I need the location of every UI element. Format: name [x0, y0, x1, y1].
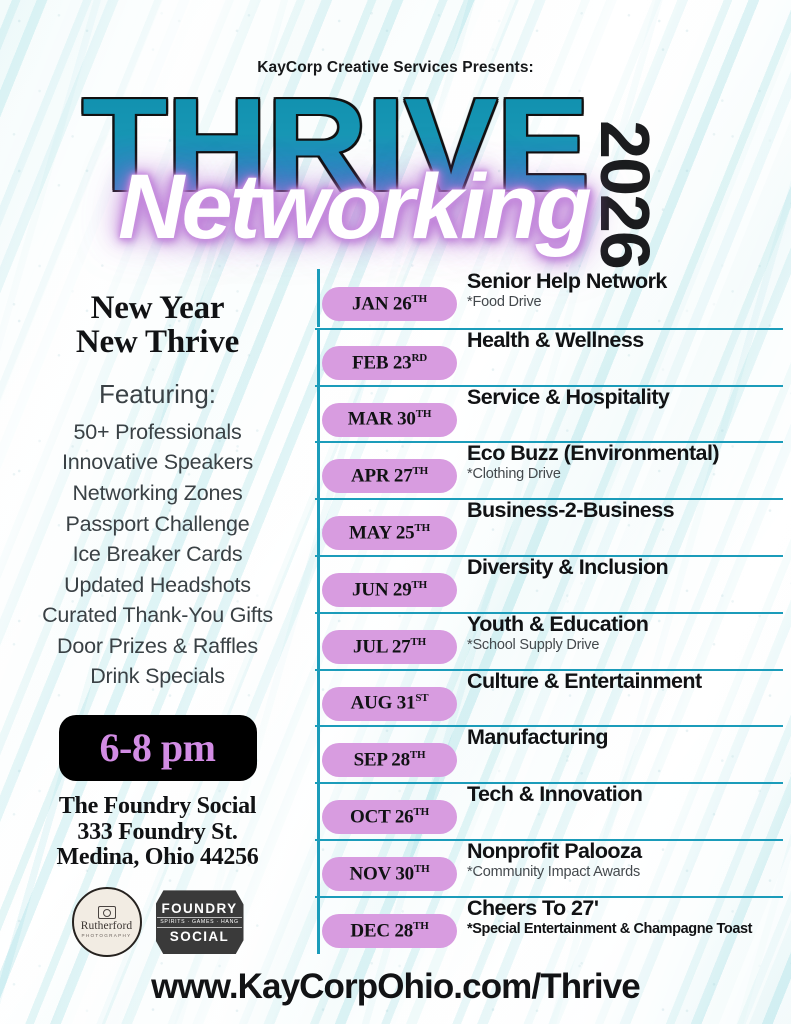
title-block: THRIVE 2026 Networking — [0, 83, 791, 268]
date-pill: NOV 30TH — [322, 857, 457, 891]
rutherford-logo-name: Rutherford — [81, 920, 132, 932]
date-label: SEP 28TH — [354, 749, 426, 771]
date-pill: SEP 28TH — [322, 743, 457, 777]
content-split: New Year New Thrive Featuring: 50+ Profe… — [0, 268, 791, 957]
date-label: OCT 26TH — [350, 806, 429, 828]
camera-icon — [98, 906, 116, 919]
schedule-row[interactable]: OCT 26THTech & Innovation — [315, 782, 783, 839]
schedule-row[interactable]: MAY 25THBusiness-2-Business — [315, 498, 783, 555]
schedule-title: Youth & Education — [467, 612, 783, 637]
schedule-info: Nonprofit Palooza*Community Impact Award… — [467, 839, 783, 881]
headline-line-1: New Year — [0, 291, 315, 325]
date-pill: JAN 26TH — [322, 287, 457, 321]
schedule-title: Culture & Entertainment — [467, 669, 783, 694]
schedule-row[interactable]: NOV 30THNonprofit Palooza*Community Impa… — [315, 839, 783, 896]
schedule-info: Senior Help Network*Food Drive — [467, 269, 783, 311]
foundry-logo-line-1: FOUNDRY — [161, 901, 237, 916]
date-label: DEC 28TH — [350, 920, 428, 942]
event-year: 2026 — [590, 120, 660, 268]
feature-item: Passport Challenge — [0, 509, 315, 540]
schedule-title: Nonprofit Palooza — [467, 839, 783, 864]
schedule-info: Youth & Education*School Supply Drive — [467, 612, 783, 654]
date-pill: OCT 26TH — [322, 800, 457, 834]
schedule-subtitle: *Clothing Drive — [467, 466, 783, 483]
right-column: JAN 26THSenior Help Network*Food DriveFE… — [315, 268, 791, 957]
date-label: APR 27TH — [351, 465, 428, 487]
date-pill: JUL 27TH — [322, 630, 457, 664]
date-label: JUN 29TH — [352, 579, 427, 601]
feature-item: Updated Headshots — [0, 570, 315, 601]
left-column: New Year New Thrive Featuring: 50+ Profe… — [0, 268, 315, 957]
schedule-row[interactable]: AUG 31STCulture & Entertainment — [315, 669, 783, 726]
schedule-row[interactable]: JAN 26THSenior Help Network*Food Drive — [315, 271, 783, 328]
date-label: FEB 23RD — [352, 352, 427, 374]
headline-line-2: New Thrive — [0, 325, 315, 359]
schedule-info: Cheers To 27'*Special Entertainment & Ch… — [467, 896, 783, 938]
time-text: 6-8 pm — [100, 724, 216, 771]
schedule-info: Culture & Entertainment — [467, 669, 783, 694]
date-pill: MAY 25TH — [322, 516, 457, 550]
time-badge: 6-8 pm — [59, 715, 257, 781]
venue-name: The Foundry Social — [0, 794, 315, 820]
date-label: MAR 30TH — [348, 408, 431, 430]
schedule-row[interactable]: SEP 28THManufacturing — [315, 725, 783, 782]
schedule-info: Manufacturing — [467, 725, 783, 750]
date-label: JAN 26TH — [352, 293, 427, 315]
schedule-row[interactable]: APR 27THEco Buzz (Environmental)*Clothin… — [315, 441, 783, 498]
schedule-title: Cheers To 27' — [467, 896, 783, 921]
website-url[interactable]: www.KayCorpOhio.com/Thrive — [0, 967, 791, 1007]
schedule-row[interactable]: JUL 27THYouth & Education*School Supply … — [315, 612, 783, 669]
schedule-title: Eco Buzz (Environmental) — [467, 441, 783, 466]
event-schedule: JAN 26THSenior Help Network*Food DriveFE… — [315, 271, 791, 953]
poster-canvas: KayCorp Creative Services Presents: THRI… — [0, 0, 791, 1024]
feature-item: 50+ Professionals — [0, 417, 315, 448]
foundry-social-logo: FOUNDRY SPIRITS · GAMES · HANG SOCIAL — [156, 890, 244, 954]
feature-item: Innovative Speakers — [0, 447, 315, 478]
schedule-info: Diversity & Inclusion — [467, 555, 783, 580]
date-pill: MAR 30TH — [322, 403, 457, 437]
schedule-info: Service & Hospitality — [467, 385, 783, 410]
date-pill: DEC 28TH — [322, 914, 457, 948]
date-label: MAY 25TH — [349, 522, 430, 544]
rutherford-logo-sub: PHOTOGRAPHY — [82, 933, 132, 938]
rutherford-photography-logo: Rutherford PHOTOGRAPHY — [72, 887, 142, 957]
date-label: JUL 27TH — [353, 636, 426, 658]
schedule-info: Business-2-Business — [467, 498, 783, 523]
date-pill: JUN 29TH — [322, 573, 457, 607]
schedule-info: Eco Buzz (Environmental)*Clothing Drive — [467, 441, 783, 483]
venue-city: Medina, Ohio 44256 — [0, 845, 315, 871]
date-label: NOV 30TH — [350, 863, 430, 885]
feature-item: Door Prizes & Raffles — [0, 631, 315, 662]
sponsor-logos: Rutherford PHOTOGRAPHY FOUNDRY SPIRITS ·… — [0, 887, 315, 957]
presenter-tagline: KayCorp Creative Services Presents: — [0, 0, 791, 77]
schedule-title: Service & Hospitality — [467, 385, 783, 410]
date-pill: APR 27TH — [322, 459, 457, 493]
date-label: AUG 31ST — [351, 692, 429, 714]
venue-address: The Foundry Social 333 Foundry St. Medin… — [0, 794, 315, 872]
feature-item: Drink Specials — [0, 661, 315, 692]
schedule-subtitle: *Food Drive — [467, 294, 783, 311]
schedule-row[interactable]: DEC 28THCheers To 27'*Special Entertainm… — [315, 896, 783, 953]
schedule-title: Diversity & Inclusion — [467, 555, 783, 580]
schedule-subtitle: *School Supply Drive — [467, 637, 783, 654]
schedule-info: Health & Wellness — [467, 328, 783, 353]
schedule-title: Manufacturing — [467, 725, 783, 750]
event-subtitle: Networking — [118, 161, 589, 253]
schedule-row[interactable]: MAR 30THService & Hospitality — [315, 385, 783, 442]
foundry-logo-line-2: SPIRITS · GAMES · HANG — [157, 917, 242, 928]
foundry-logo-line-3: SOCIAL — [170, 929, 229, 944]
feature-item: Networking Zones — [0, 478, 315, 509]
schedule-title: Senior Help Network — [467, 269, 783, 294]
schedule-subtitle: *Special Entertainment & Champagne Toast — [467, 921, 783, 938]
feature-list: 50+ ProfessionalsInnovative SpeakersNetw… — [0, 417, 315, 692]
venue-street: 333 Foundry St. — [0, 820, 315, 846]
schedule-info: Tech & Innovation — [467, 782, 783, 807]
feature-item: Curated Thank-You Gifts — [0, 600, 315, 631]
date-pill: AUG 31ST — [322, 687, 457, 721]
schedule-title: Health & Wellness — [467, 328, 783, 353]
schedule-title: Tech & Innovation — [467, 782, 783, 807]
date-pill: FEB 23RD — [322, 346, 457, 380]
schedule-title: Business-2-Business — [467, 498, 783, 523]
schedule-subtitle: *Community Impact Awards — [467, 864, 783, 881]
schedule-row[interactable]: FEB 23RDHealth & Wellness — [315, 328, 783, 385]
headline: New Year New Thrive — [0, 291, 315, 359]
schedule-row[interactable]: JUN 29THDiversity & Inclusion — [315, 555, 783, 612]
featuring-label: Featuring: — [0, 379, 315, 410]
feature-item: Ice Breaker Cards — [0, 539, 315, 570]
